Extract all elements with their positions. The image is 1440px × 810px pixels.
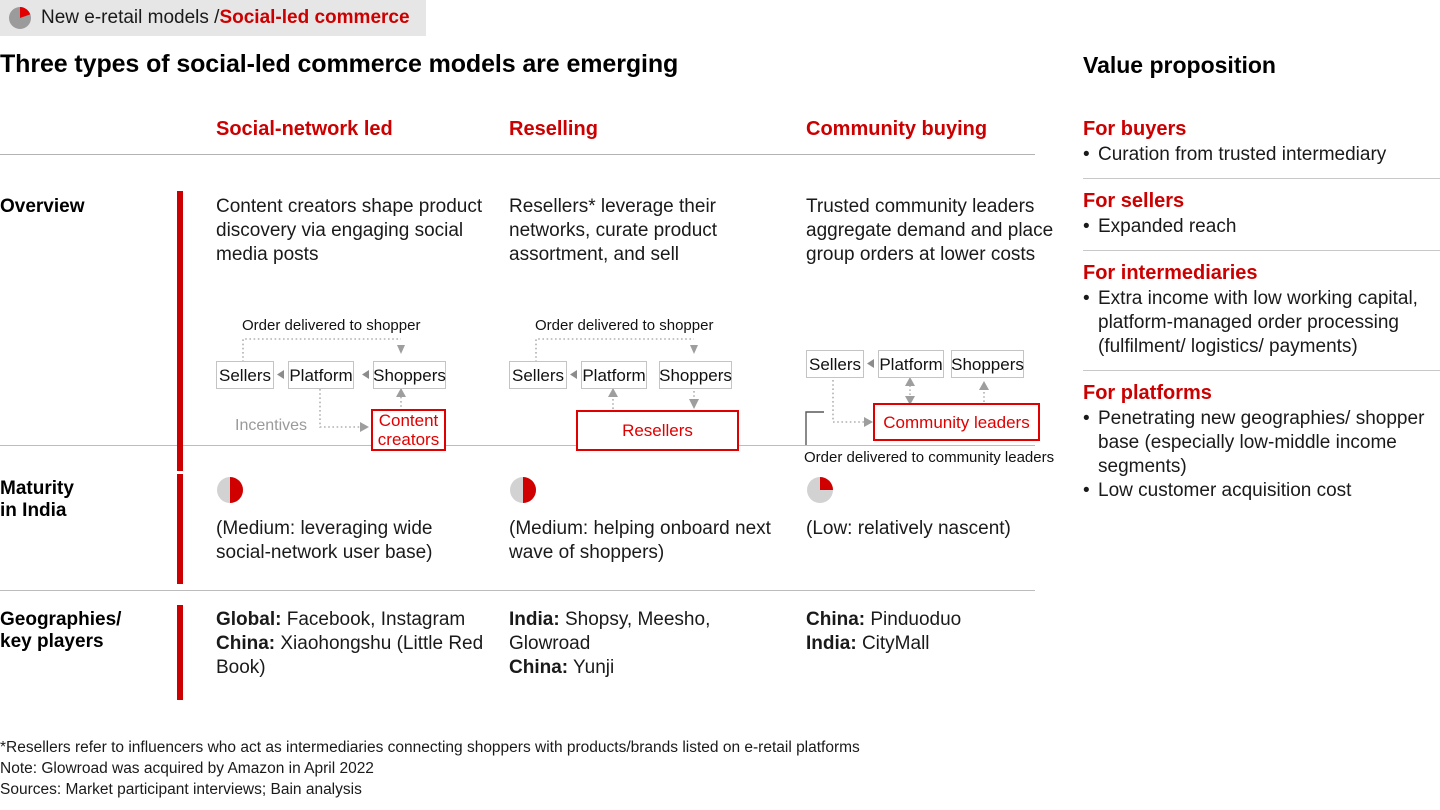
breadcrumb-parent[interactable]: New e-retail models / bbox=[41, 7, 219, 29]
diagram-social-network-led-flow: Order delivered to shopper Sellers Platf… bbox=[216, 317, 486, 442]
vp-block-for-sellers: For sellers • Expanded reach bbox=[1083, 190, 1440, 239]
row-label-overview: Overview bbox=[0, 196, 170, 218]
vp-item-text: Curation from trusted intermediary bbox=[1098, 144, 1386, 165]
maturity-pie-community-buying bbox=[806, 476, 834, 504]
vp-item: • Low customer acquisition cost bbox=[1083, 479, 1440, 503]
overview-cell-community-buying: Trusted community leaders aggregate dema… bbox=[806, 195, 1056, 267]
row-accent-bar bbox=[177, 605, 183, 700]
row-label-geographies-line2: key players bbox=[0, 631, 104, 652]
flow-box-platform: Platform bbox=[288, 361, 354, 389]
flow-label-incentives: Incentives bbox=[235, 417, 307, 435]
player-names: CityMall bbox=[857, 633, 930, 654]
vp-divider bbox=[1083, 250, 1440, 251]
row-accent-bar bbox=[177, 191, 183, 471]
vp-divider bbox=[1083, 178, 1440, 179]
vp-heading-for-buyers: For buyers bbox=[1083, 118, 1440, 141]
vp-item: • Penetrating new geographies/ shopper b… bbox=[1083, 407, 1440, 479]
matrix-row-maturity: Maturity in India (Medium: leveraging wi… bbox=[0, 446, 1035, 590]
vp-divider bbox=[1083, 370, 1440, 371]
vp-block-for-platforms: For platforms • Penetrating new geograph… bbox=[1083, 382, 1440, 503]
row-label-maturity: Maturity in India bbox=[0, 478, 170, 522]
vp-heading-for-sellers: For sellers bbox=[1083, 190, 1440, 213]
vp-item-text: Expanded reach bbox=[1098, 216, 1236, 237]
overview-cell-reselling: Resellers* leverage their networks, cura… bbox=[509, 195, 779, 267]
vp-block-for-intermediaries: For intermediaries • Extra income with l… bbox=[1083, 262, 1440, 359]
vp-heading-for-intermediaries: For intermediaries bbox=[1083, 262, 1440, 285]
overview-cell-social-network-led: Content creators shape product discovery… bbox=[216, 195, 486, 267]
row-label-maturity-line1: Maturity bbox=[0, 478, 74, 499]
vp-item-text: Penetrating new geographies/ shopper bas… bbox=[1098, 408, 1424, 477]
flow-box-resellers: Resellers bbox=[576, 410, 739, 451]
breadcrumb-current: Social-led commerce bbox=[219, 7, 409, 29]
matrix-row-overview: Overview Content creators shape product … bbox=[0, 155, 1035, 445]
flow-box-content-creators: Content creators bbox=[371, 409, 446, 451]
matrix-column-headers: Social-network led Reselling Community b… bbox=[0, 118, 1035, 154]
row-label-maturity-line2: in India bbox=[0, 500, 67, 521]
vp-item: • Curation from trusted intermediary bbox=[1083, 143, 1440, 167]
value-proposition-title: Value proposition bbox=[1083, 52, 1276, 79]
flow-box-shoppers: Shoppers bbox=[659, 361, 732, 389]
bullet-icon: • bbox=[1083, 407, 1090, 431]
maturity-cell-social-network-led: (Medium: leveraging wide social-network … bbox=[216, 517, 486, 565]
player-names: Pinduoduo bbox=[865, 609, 961, 630]
column-header-reselling: Reselling bbox=[509, 118, 598, 141]
row-accent-bar bbox=[177, 474, 183, 584]
players-cell-reselling: India: Shopsy, Meesho, Glowroad China: Y… bbox=[509, 608, 779, 680]
player-geo-label: China: bbox=[216, 633, 275, 654]
flow-box-platform: Platform bbox=[878, 350, 944, 378]
pie-chart-icon bbox=[8, 6, 32, 30]
player-geo-label: India: bbox=[806, 633, 857, 654]
player-names: Facebook, Instagram bbox=[281, 609, 465, 630]
row-label-geographies: Geographies/ key players bbox=[0, 609, 170, 653]
page-title: Three types of social-led commerce model… bbox=[0, 50, 678, 79]
row-label-geographies-line1: Geographies/ bbox=[0, 609, 121, 630]
breadcrumb: New e-retail models / Social-led commerc… bbox=[0, 0, 426, 36]
players-cell-social-network-led: Global: Facebook, Instagram China: Xiaoh… bbox=[216, 608, 486, 680]
diagram-reselling-flow: Order delivered to shopper Sellers Platf… bbox=[509, 317, 779, 442]
vp-item: • Extra income with low working capital,… bbox=[1083, 287, 1440, 359]
flow-box-platform: Platform bbox=[581, 361, 647, 389]
maturity-pie-social-network-led bbox=[216, 476, 244, 504]
flow-box-community-leaders: Community leaders bbox=[873, 403, 1040, 441]
player-geo-label: China: bbox=[509, 657, 568, 678]
bullet-icon: • bbox=[1083, 479, 1090, 503]
matrix-row-geographies: Geographies/ key players Global: Faceboo… bbox=[0, 591, 1035, 711]
flow-box-shoppers: Shoppers bbox=[951, 350, 1024, 378]
bullet-icon: • bbox=[1083, 287, 1090, 311]
bullet-icon: • bbox=[1083, 215, 1090, 239]
players-cell-community-buying: China: Pinduoduo India: CityMall bbox=[806, 608, 1056, 656]
vp-block-for-buyers: For buyers • Curation from trusted inter… bbox=[1083, 118, 1440, 167]
flow-box-sellers: Sellers bbox=[509, 361, 567, 389]
player-geo-label: India: bbox=[509, 609, 560, 630]
maturity-cell-community-buying: (Low: relatively nascent) bbox=[806, 517, 1056, 541]
vp-item-text: Extra income with low working capital, p… bbox=[1098, 288, 1418, 357]
value-proposition-panel: For buyers • Curation from trusted inter… bbox=[1083, 118, 1440, 503]
footnote-resellers-definition: *Resellers refer to influencers who act … bbox=[0, 737, 860, 758]
footnote-note: Note: Glowroad was acquired by Amazon in… bbox=[0, 758, 860, 779]
maturity-pie-reselling bbox=[509, 476, 537, 504]
footnote-sources: Sources: Market participant interviews; … bbox=[0, 779, 860, 800]
column-header-community-buying: Community buying bbox=[806, 118, 987, 141]
vp-heading-for-platforms: For platforms bbox=[1083, 382, 1440, 405]
maturity-cell-reselling: (Medium: helping onboard next wave of sh… bbox=[509, 517, 779, 565]
vp-item: • Expanded reach bbox=[1083, 215, 1440, 239]
flow-box-sellers: Sellers bbox=[216, 361, 274, 389]
flow-box-sellers: Sellers bbox=[806, 350, 864, 378]
player-names: Yunji bbox=[568, 657, 614, 678]
column-header-social-network-led: Social-network led bbox=[216, 118, 393, 141]
vp-item-text: Low customer acquisition cost bbox=[1098, 480, 1351, 501]
flow-box-shoppers: Shoppers bbox=[373, 361, 446, 389]
comparison-matrix: Social-network led Reselling Community b… bbox=[0, 118, 1035, 711]
footnotes: *Resellers refer to influencers who act … bbox=[0, 737, 860, 800]
bullet-icon: • bbox=[1083, 143, 1090, 167]
player-geo-label: Global: bbox=[216, 609, 281, 630]
player-geo-label: China: bbox=[806, 609, 865, 630]
